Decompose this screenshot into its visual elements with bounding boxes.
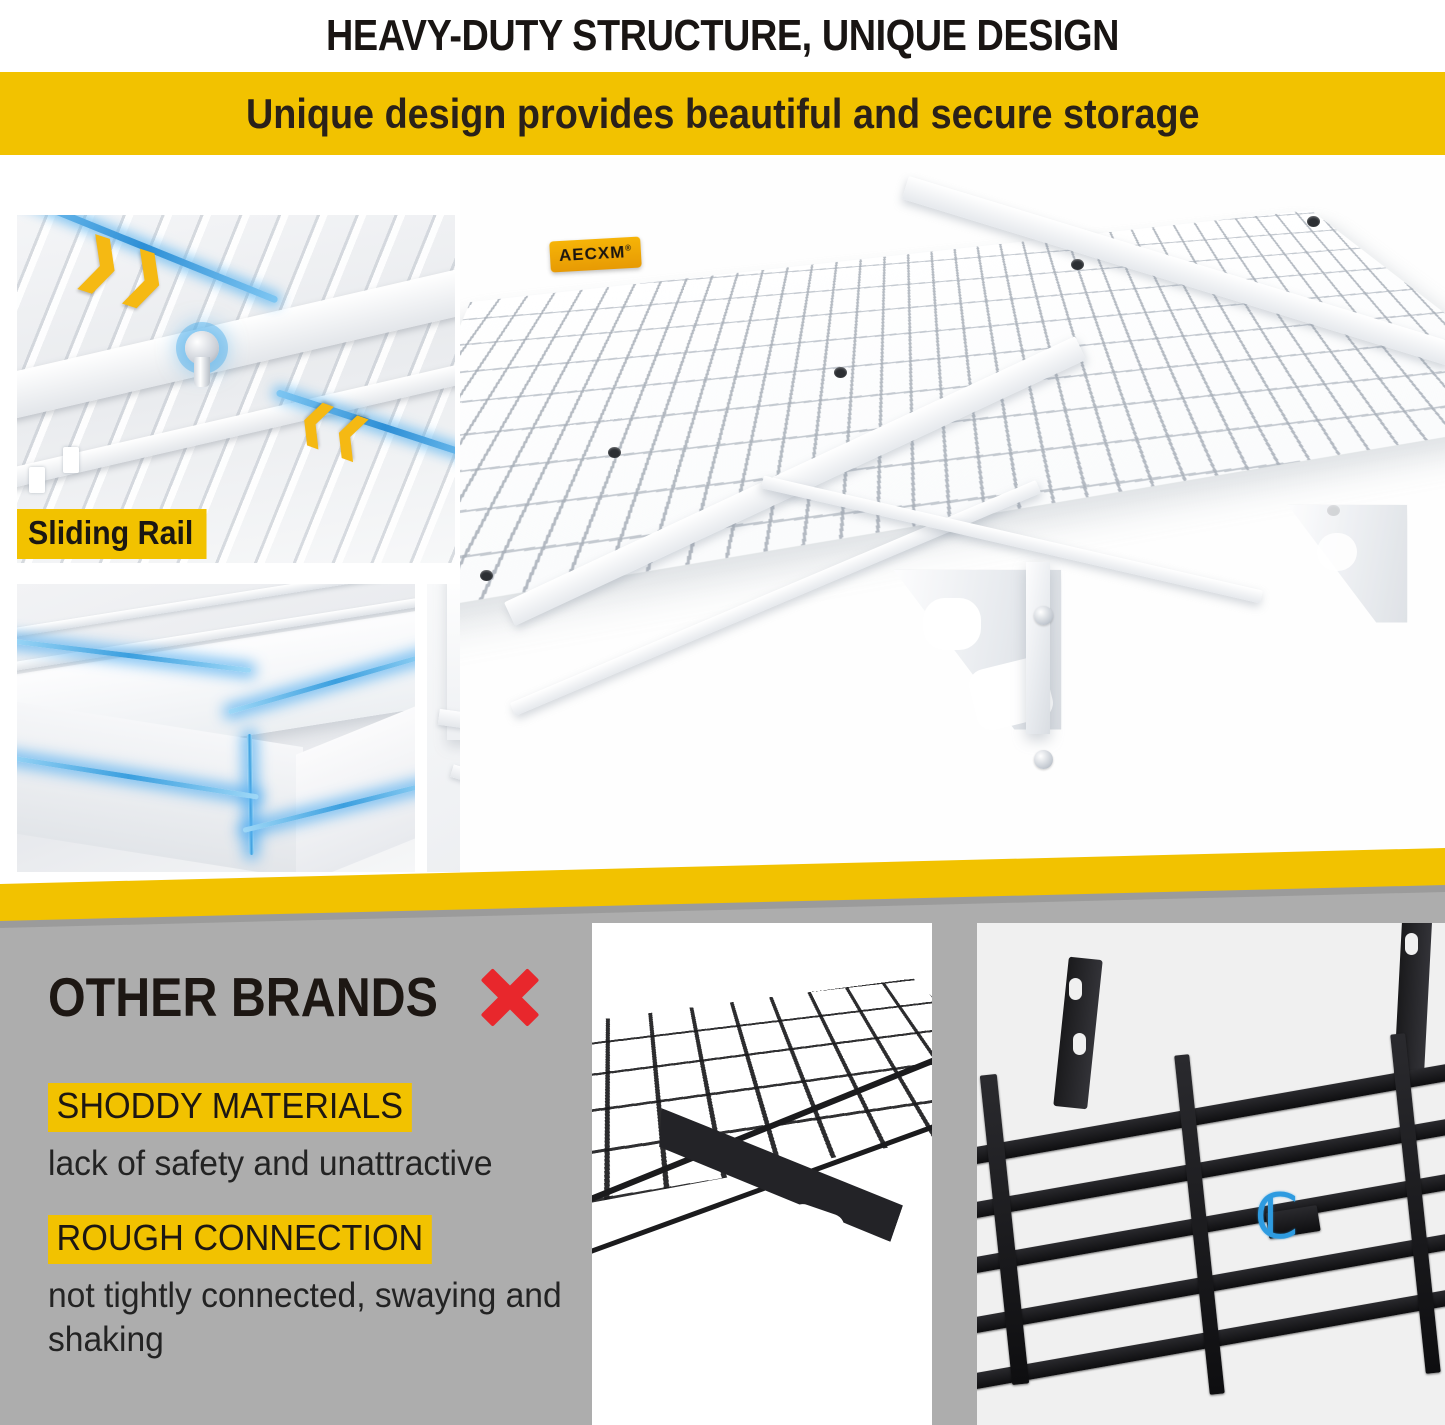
bracket-cutout [923, 598, 981, 650]
x-mark-icon [479, 966, 541, 1028]
brand-logo-text: AECXM [558, 242, 625, 265]
mounting-hole [608, 447, 621, 458]
mounting-hole [480, 570, 493, 581]
mount-hole [1073, 1033, 1086, 1055]
bolt-stem [194, 357, 210, 387]
mounting-hole [1307, 216, 1320, 227]
comparison-heading: OTHER BRANDS [48, 965, 541, 1029]
bracket-cutout [882, 1237, 932, 1275]
sliding-rail-label: Sliding Rail [17, 509, 206, 559]
photo-black-mesh-shelf [592, 923, 932, 1425]
slot-cutout [29, 467, 45, 493]
bracket-wall-plate [1026, 562, 1050, 734]
feature-collage: ❱❱ ❱❱ Sliding Rail [0, 158, 1445, 880]
comparison-bullet-1: SHODDY MATERIALS lack of safety and unat… [48, 1083, 511, 1186]
mount-hole [1069, 978, 1082, 1000]
panel-corner-edge [17, 584, 415, 872]
bullet-description: not tightly connected, swaying and shaki… [48, 1274, 586, 1362]
product-infographic: HEAVY-DUTY STRUCTURE, UNIQUE DESIGN Uniq… [0, 0, 1445, 1425]
bullet-description: lack of safety and unattractive [48, 1142, 493, 1186]
comparison-heading-text: OTHER BRANDS [48, 965, 438, 1029]
loose-joint-annotation-icon: ℂ [1255, 1187, 1297, 1247]
frame-side-rail [979, 1074, 1028, 1385]
bracket-screw [1034, 750, 1053, 769]
page-subtitle: Unique design provides beautiful and sec… [246, 90, 1200, 138]
panel-sliding-rail: ❱❱ ❱❱ Sliding Rail [17, 215, 455, 563]
comparison-bullet-2: ROUGH CONNECTION not tightly connected, … [48, 1215, 608, 1362]
frame-bar [977, 1058, 1445, 1166]
mounting-hole [1071, 259, 1084, 270]
photo-black-frame-joint: ℂ [977, 923, 1445, 1425]
brand-logo-badge: AECXM® [549, 236, 642, 272]
bullet-label: ROUGH CONNECTION [48, 1215, 432, 1264]
bullet-label: SHODDY MATERIALS [48, 1083, 412, 1132]
bracket-cutout [1317, 533, 1357, 571]
page-title: HEAVY-DUTY STRUCTURE, UNIQUE DESIGN [101, 2, 1344, 70]
frame-bar [977, 1114, 1445, 1221]
trademark-icon: ® [625, 243, 632, 252]
bracket-screw [1034, 606, 1053, 625]
mount-hole [1405, 933, 1418, 955]
header-subtitle-band: Unique design provides beautiful and sec… [0, 72, 1445, 155]
slot-cutout [63, 447, 79, 473]
